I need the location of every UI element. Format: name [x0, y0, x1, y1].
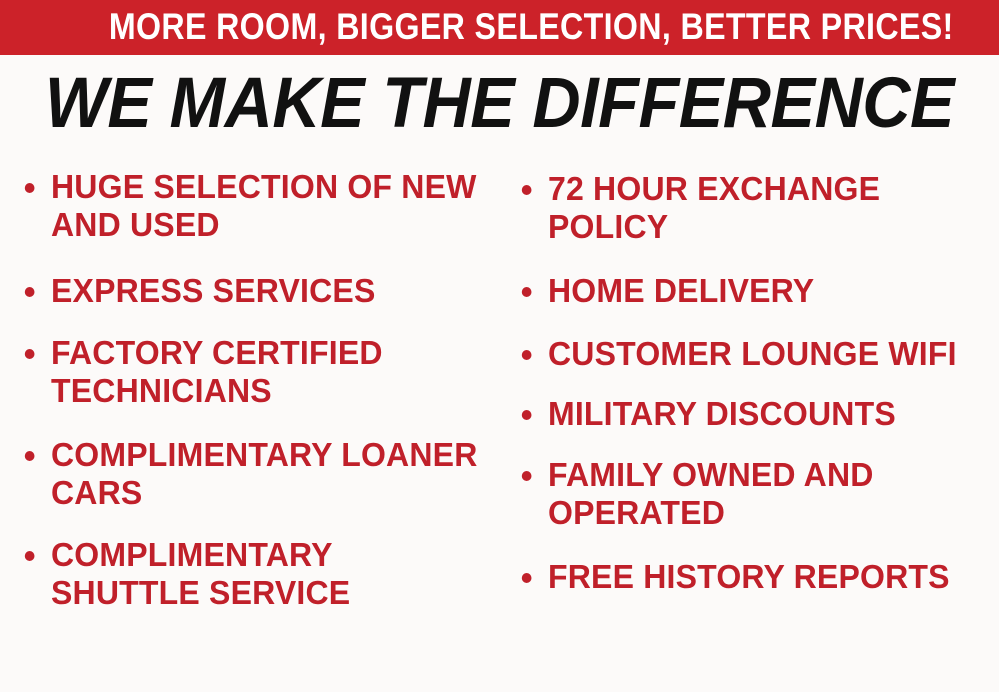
list-item: COMPLIMENTARY LOANER CARS [18, 436, 484, 512]
list-item: MILITARY DISCOUNTS [515, 395, 984, 433]
list-item: 72 HOUR EXCHANGE POLICY [515, 170, 984, 246]
list-item-label: CUSTOMER LOUNGE WIFI [548, 335, 985, 373]
bullet-dot-icon [25, 451, 35, 461]
bullet-dot-icon [522, 410, 532, 420]
bullet-dot-icon [522, 471, 532, 481]
list-item-label: FREE HISTORY REPORTS [548, 558, 985, 596]
list-item-label: COMPLIMENTARY SHUTTLE SERVICE [51, 536, 484, 612]
promo-banner-text: MORE ROOM, BIGGER SELECTION, BETTER PRIC… [109, 7, 896, 47]
list-item-label: COMPLIMENTARY LOANER CARS [51, 436, 484, 512]
bullet-dot-icon [522, 185, 532, 195]
list-item: HOME DELIVERY [515, 272, 984, 310]
bullet-dot-icon [25, 551, 35, 561]
bullet-dot-icon [522, 350, 532, 360]
bullet-dot-icon [25, 183, 35, 193]
list-item: FAMILY OWNED AND OPERATED [515, 456, 984, 532]
promo-banner: MORE ROOM, BIGGER SELECTION, BETTER PRIC… [0, 0, 999, 55]
list-item-label: 72 HOUR EXCHANGE POLICY [548, 170, 985, 246]
list-item: EXPRESS SERVICES [18, 272, 484, 310]
list-item: FREE HISTORY REPORTS [515, 558, 984, 596]
bullet-dot-icon [25, 349, 35, 359]
list-item-label: MILITARY DISCOUNTS [548, 395, 985, 433]
list-item-label: HUGE SELECTION OF NEW AND USED [51, 168, 484, 244]
page-title: WE MAKE THE DIFFERENCE [30, 66, 969, 142]
list-item-label: HOME DELIVERY [548, 272, 985, 310]
bullet-dot-icon [522, 573, 532, 583]
list-item: CUSTOMER LOUNGE WIFI [515, 335, 984, 373]
bullet-dot-icon [25, 287, 35, 297]
benefits-columns: HUGE SELECTION OF NEW AND USED EXPRESS S… [0, 160, 999, 692]
list-item: COMPLIMENTARY SHUTTLE SERVICE [18, 536, 484, 612]
list-item-label: FAMILY OWNED AND OPERATED [548, 456, 985, 532]
list-item: FACTORY CERTIFIED TECHNICIANS [18, 334, 484, 410]
list-item-label: FACTORY CERTIFIED TECHNICIANS [51, 334, 484, 410]
list-item-label: EXPRESS SERVICES [51, 272, 484, 310]
benefits-column-right: 72 HOUR EXCHANGE POLICY HOME DELIVERY CU… [515, 160, 999, 596]
bullet-dot-icon [522, 287, 532, 297]
list-item: HUGE SELECTION OF NEW AND USED [18, 168, 484, 244]
benefits-column-left: HUGE SELECTION OF NEW AND USED EXPRESS S… [18, 160, 498, 612]
